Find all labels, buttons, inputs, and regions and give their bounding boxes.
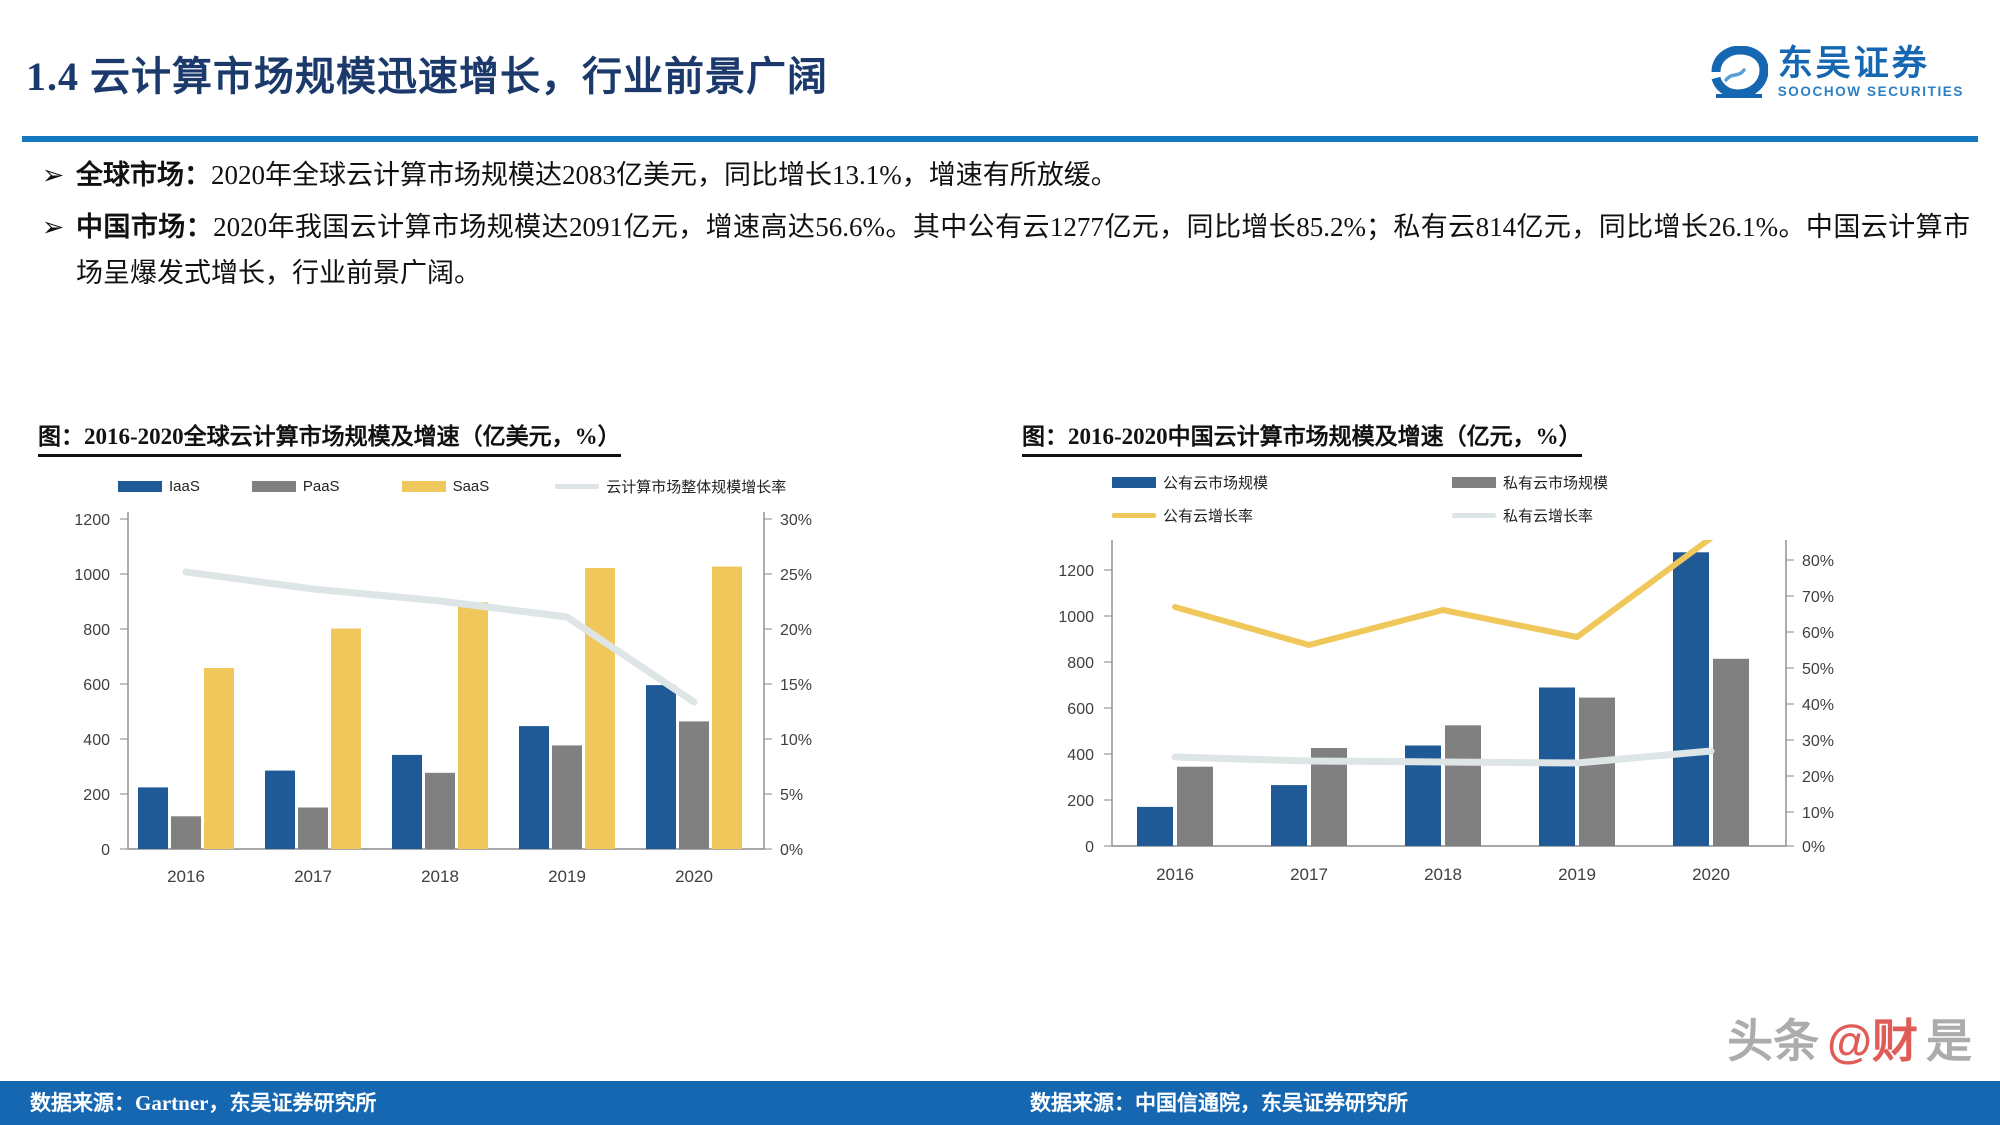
logo-english-name: SOOCHOW SECURITIES [1778, 85, 1964, 99]
y2-tick-label: 50% [1802, 661, 1834, 678]
y-tick-label: 1200 [74, 512, 110, 529]
watermark-highlight: @财 [1827, 1005, 1918, 1071]
list-item: ➢ 全球市场：2020年全球云计算市场规模达2083亿美元，同比增长13.1%，… [30, 152, 1970, 198]
logo-chinese-name: 东吴证券 [1778, 46, 1964, 81]
y-tick-label: 800 [83, 622, 110, 639]
bar-group-2016 [1137, 767, 1213, 846]
y2-tick-label: 60% [1802, 625, 1834, 642]
x-tick-label: 2018 [1424, 865, 1462, 884]
y2-tick-label: 30% [1802, 733, 1834, 750]
bar-saas-2019 [585, 568, 615, 849]
y-tick-label: 1000 [1058, 609, 1094, 626]
bullet-list: ➢ 全球市场：2020年全球云计算市场规模达2083亿美元，同比增长13.1%，… [30, 152, 1970, 302]
x-tick-label: 2017 [294, 867, 332, 886]
watermark-prefix: 头条 [1727, 1005, 1819, 1071]
legend-swatch-private-cloud-size [1452, 477, 1496, 488]
chart-caption-left: 图：2016-2020全球云计算市场规模及增速（亿美元，%） [38, 417, 621, 457]
bullet-arrow-icon: ➢ [30, 152, 76, 198]
bullet-arrow-icon: ➢ [30, 204, 76, 250]
legend-label-paas: PaaS [303, 478, 340, 495]
y2-tick-label: 20% [780, 622, 812, 639]
x-tick-label: 2019 [548, 867, 586, 886]
chart-panel-right: 公有云市场规模 私有云市场规模 公有云增长率 私有云增长率 1400 1200 … [1012, 462, 1967, 1028]
bar-private-2020 [1713, 659, 1749, 846]
legend-item-growth-rate: 云计算市场整体规模增长率 [555, 476, 786, 497]
bar-saas-2018 [458, 602, 488, 849]
y-tick-label: 200 [83, 787, 110, 804]
watermark: 头条 @财 是 [1727, 1005, 1972, 1071]
bar-paas-2020 [679, 721, 709, 849]
y-tick-label: 0 [101, 842, 110, 859]
y-tick-label: 600 [83, 677, 110, 694]
y2-tick-label: 70% [1802, 589, 1834, 606]
footer-source-left: 数据来源：Gartner，东吴证券研究所 [30, 1087, 376, 1117]
y-tick-label: 400 [83, 732, 110, 749]
scs-swirl-icon [1710, 46, 1768, 98]
legend-label-iaas: IaaS [169, 478, 200, 495]
legend-swatch-iaas [118, 481, 162, 492]
bar-public-2019 [1539, 688, 1575, 847]
legend-swatch-private-cloud-growth [1452, 513, 1496, 518]
line-public-cloud-growth [1175, 540, 1711, 645]
bar-group-2016 [138, 668, 234, 849]
bar-paas-2019 [552, 745, 582, 849]
bar-paas-2016 [171, 816, 201, 849]
y2-tick-label: 15% [780, 677, 812, 694]
legend-item-paas: PaaS [252, 476, 340, 497]
legend-swatch-growth-rate [555, 484, 599, 489]
bar-group-2020 [646, 567, 742, 849]
legend-item-saas: SaaS [402, 476, 490, 497]
bullet-body: 中国市场：2020年我国云计算市场规模达2091亿元，增速高达56.6%。其中公… [76, 204, 1970, 296]
bar-group-2018 [392, 602, 488, 849]
bar-saas-2017 [331, 629, 361, 850]
legend-item-private-cloud-size: 私有云市场规模 [1452, 472, 1782, 493]
company-logo: 东吴证券 SOOCHOW SECURITIES [1710, 42, 1964, 102]
y2-tick-label: 80% [1802, 553, 1834, 570]
footer-source-right: 数据来源：中国信通院，东吴证券研究所 [1030, 1087, 1408, 1117]
bar-group-2019 [1539, 688, 1615, 847]
bullet-lead: 中国市场： [76, 212, 213, 242]
bar-public-2016 [1137, 807, 1173, 846]
y-tick-label: 1200 [1058, 563, 1094, 580]
legend-swatch-paas [252, 481, 296, 492]
legend-label-private-cloud-growth: 私有云增长率 [1503, 505, 1593, 526]
legend-item-private-cloud-growth: 私有云增长率 [1452, 505, 1782, 526]
legend-label-public-cloud-size: 公有云市场规模 [1163, 472, 1268, 493]
legend-item-public-cloud-growth: 公有云增长率 [1112, 505, 1442, 526]
bar-iaas-2019 [519, 726, 549, 849]
bar-private-2018 [1445, 725, 1481, 846]
bullet-text: 2020年我国云计算市场规模达2091亿元，增速高达56.6%。其中公有云127… [76, 212, 1970, 288]
x-tick-label: 2019 [1558, 865, 1596, 884]
legend-label-public-cloud-growth: 公有云增长率 [1163, 505, 1253, 526]
legend-item-iaas: IaaS [118, 476, 200, 497]
bar-group-2020 [1673, 552, 1749, 846]
legend-label-saas: SaaS [453, 478, 490, 495]
bar-group-2018 [1405, 725, 1481, 846]
x-tick-label: 2016 [167, 867, 205, 886]
bar-saas-2020 [712, 567, 742, 849]
line-growth-rate [186, 572, 694, 702]
x-tick-label: 2016 [1156, 865, 1194, 884]
x-tick-label: 2020 [675, 867, 713, 886]
legend-item-public-cloud-size: 公有云市场规模 [1112, 472, 1442, 493]
y2-tick-label: 10% [1802, 805, 1834, 822]
bar-iaas-2017 [265, 771, 295, 849]
bullet-lead: 全球市场： [76, 160, 211, 190]
bar-iaas-2020 [646, 685, 676, 849]
y2-tick-label: 0% [780, 842, 803, 859]
y-tick-label: 800 [1067, 655, 1094, 672]
bar-iaas-2016 [138, 787, 168, 849]
y-tick-label: 200 [1067, 793, 1094, 810]
y2-tick-label: 20% [1802, 769, 1834, 786]
chart-plot-right: 1400 1200 1000 800 600 400 200 0 90% 80%… [1012, 540, 1967, 1030]
y-tick-label: 400 [1067, 747, 1094, 764]
y2-tick-label: 40% [1802, 697, 1834, 714]
list-item: ➢ 中国市场：2020年我国云计算市场规模达2091亿元，增速高达56.6%。其… [30, 204, 1970, 296]
page-header: 1.4 云计算市场规模迅速增长，行业前景广阔 东吴证券 SOOCHOW SECU… [0, 0, 2000, 146]
y2-tick-label: 0% [1802, 839, 1825, 856]
y-tick-label: 1000 [74, 567, 110, 584]
bar-private-2016 [1177, 767, 1213, 846]
header-divider [22, 136, 1978, 142]
legend-swatch-public-cloud-growth [1112, 513, 1156, 518]
chart-plot-left: 1200 1000 800 600 400 200 0 30% 25% 20% … [28, 502, 958, 1022]
bar-paas-2018 [425, 773, 455, 849]
chart-legend-right: 公有云市场规模 私有云市场规模 公有云增长率 私有云增长率 [1112, 472, 1942, 526]
logo-text-block: 东吴证券 SOOCHOW SECURITIES [1778, 46, 1964, 99]
y2-tick-label: 30% [780, 512, 812, 529]
legend-label-private-cloud-size: 私有云市场规模 [1503, 472, 1608, 493]
y-tick-label: 0 [1085, 839, 1094, 856]
legend-swatch-saas [402, 481, 446, 492]
bullet-body: 全球市场：2020年全球云计算市场规模达2083亿美元，同比增长13.1%，增速… [76, 152, 1970, 198]
x-tick-label: 2018 [421, 867, 459, 886]
y2-tick-label: 10% [780, 732, 812, 749]
bar-public-2017 [1271, 785, 1307, 846]
legend-swatch-public-cloud-size [1112, 477, 1156, 488]
bar-iaas-2018 [392, 755, 422, 849]
bar-saas-2016 [204, 668, 234, 849]
y-tick-label: 600 [1067, 701, 1094, 718]
bar-private-2019 [1579, 698, 1615, 846]
bar-public-2020 [1673, 552, 1709, 846]
legend-label-growth-rate: 云计算市场整体规模增长率 [606, 476, 786, 497]
chart-panel-left: IaaS PaaS SaaS 云计算市场整体规模增长率 1200 1000 80… [28, 462, 958, 1028]
bullet-text: 2020年全球云计算市场规模达2083亿美元，同比增长13.1%，增速有所放缓。 [211, 160, 1118, 190]
watermark-suffix: 是 [1926, 1005, 1972, 1071]
y2-tick-label: 25% [780, 567, 812, 584]
chart-caption-right: 图：2016-2020中国云计算市场规模及增速（亿元，%） [1022, 417, 1582, 457]
x-tick-label: 2017 [1290, 865, 1328, 884]
bar-paas-2017 [298, 808, 328, 850]
line-private-cloud-growth [1175, 751, 1711, 763]
x-tick-label: 2020 [1692, 865, 1730, 884]
y2-tick-label: 5% [780, 787, 803, 804]
bar-group-2017 [265, 629, 361, 850]
page-title: 1.4 云计算市场规模迅速增长，行业前景广阔 [26, 44, 828, 102]
chart-legend-left: IaaS PaaS SaaS 云计算市场整体规模增长率 [118, 476, 938, 497]
